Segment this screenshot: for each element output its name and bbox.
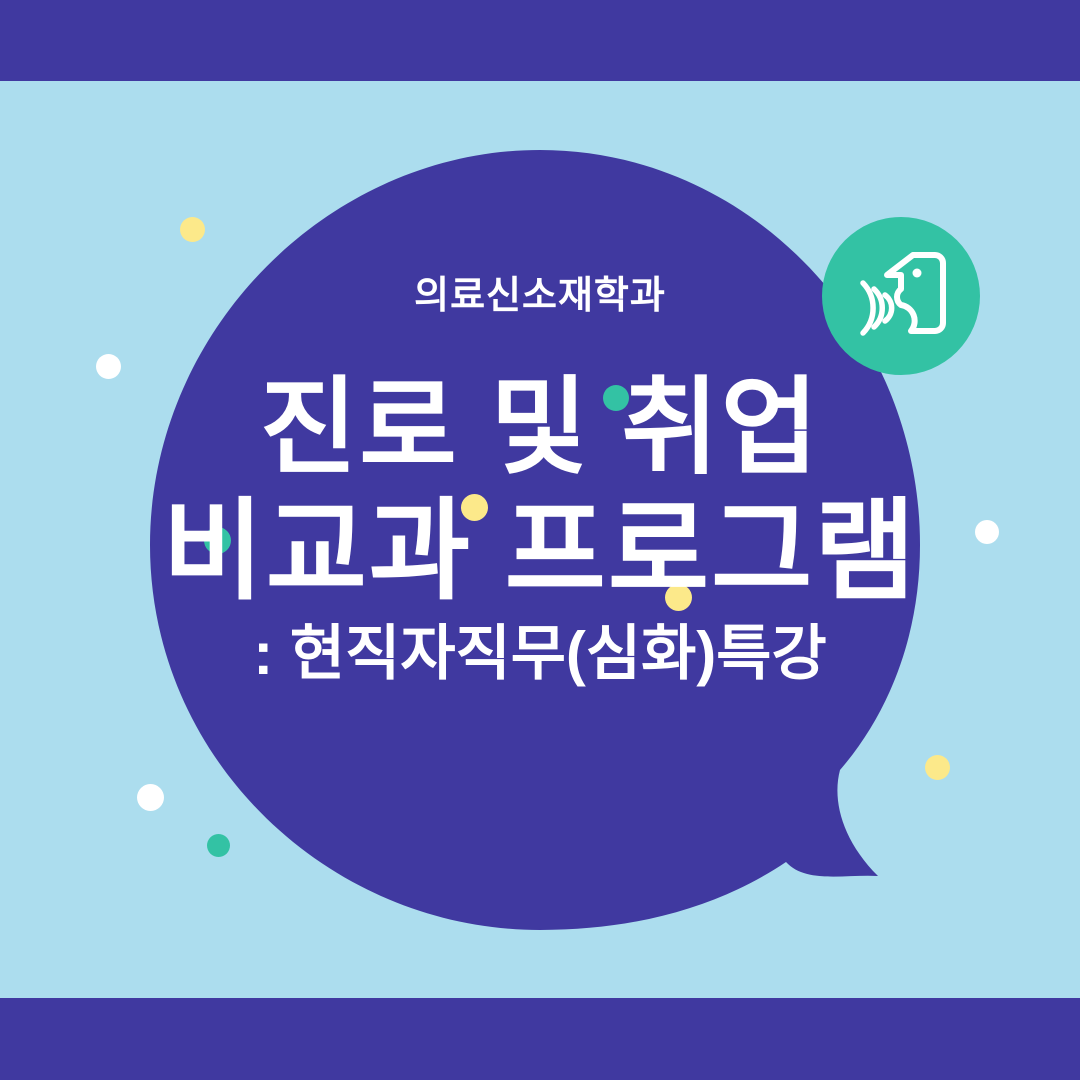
title-line-2: 비교과 프로그램 xyxy=(0,497,1080,607)
speaking-head-badge xyxy=(822,217,980,375)
title-line-1: 진로 및 취업 xyxy=(0,375,1080,481)
bottom-color-band xyxy=(0,998,1080,1080)
poster-canvas: 의료신소재학과 진로 및 취업 비교과 프로그램 : 현직자직무(심화)특강 xyxy=(0,0,1080,1080)
poster-subtitle: : 현직자직무(심화)특강 xyxy=(0,624,1080,684)
speaking-head-icon xyxy=(855,249,947,343)
